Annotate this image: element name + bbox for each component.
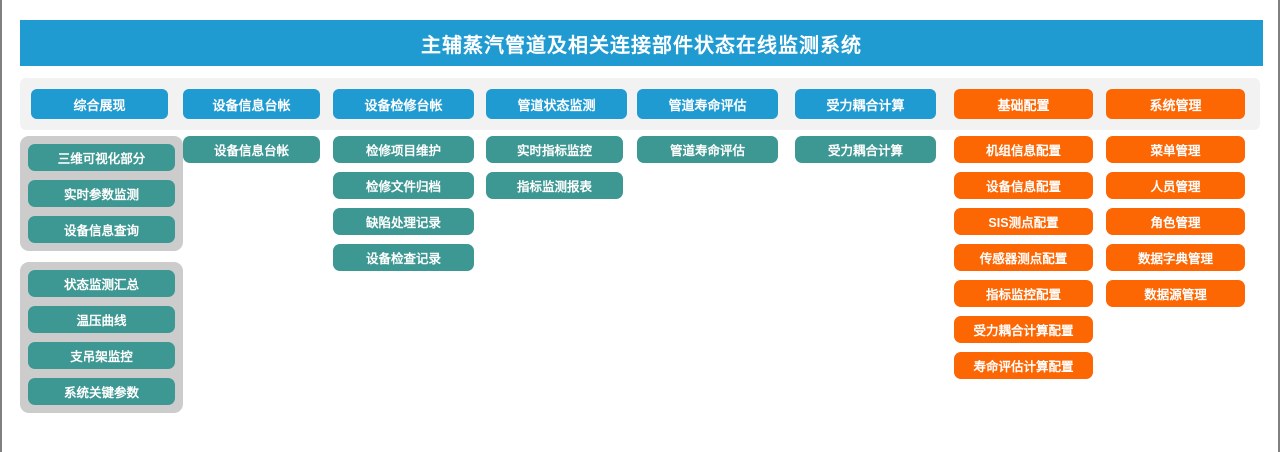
submenu-item[interactable]: 设备信息查询	[28, 216, 175, 243]
main-navigation-bar: 综合展现设备信息台帐设备检修台帐管道状态监测管道寿命评估受力耦合计算基础配置系统…	[20, 78, 1260, 130]
submenu-column-3: 检修项目维护检修文件归档缺陷处理记录设备检查记录	[333, 136, 474, 280]
submenu-item[interactable]: 受力耦合计算配置	[954, 316, 1093, 343]
nav-button-2[interactable]: 设备信息台帐	[183, 89, 320, 119]
submenu-item[interactable]: 缺陷处理记录	[333, 208, 474, 235]
nav-button-label: 设备检修台帐	[364, 95, 442, 114]
submenu-column-5: 管道寿命评估	[637, 136, 778, 172]
submenu-column-6: 受力耦合计算	[795, 136, 936, 172]
nav-button-label: 综合展现	[73, 95, 125, 114]
submenu-item-label: 设备信息台帐	[214, 140, 289, 159]
submenu-item[interactable]: 系统关键参数	[28, 378, 175, 405]
submenu-item-label: 数据源管理	[1144, 284, 1207, 303]
submenu-item[interactable]: 设备信息台帐	[183, 136, 320, 163]
submenu-item[interactable]: 状态监测汇总	[28, 270, 175, 297]
submenu-item-label: 检修文件归档	[366, 176, 441, 195]
nav-button-1[interactable]: 综合展现	[31, 89, 168, 119]
submenu-item[interactable]: 支吊架监控	[28, 342, 175, 369]
submenu-item-label: 设备检查记录	[366, 248, 441, 267]
submenu-group-box: 状态监测汇总温压曲线支吊架监控系统关键参数	[20, 262, 183, 413]
submenu-column-2: 设备信息台帐	[183, 136, 320, 172]
submenu-item[interactable]: 设备检查记录	[333, 244, 474, 271]
submenu-item[interactable]: 三维可视化部分	[28, 144, 175, 171]
submenu-item[interactable]: 检修文件归档	[333, 172, 474, 199]
submenu-item[interactable]: 数据字典管理	[1106, 244, 1245, 271]
submenu-item-label: 系统关键参数	[64, 382, 139, 401]
submenu-item[interactable]: 寿命评估计算配置	[954, 352, 1093, 379]
submenu-item-label: 角色管理	[1150, 212, 1200, 231]
nav-button-5[interactable]: 管道寿命评估	[637, 89, 778, 119]
submenu-item-label: 机组信息配置	[986, 140, 1061, 159]
submenu-item-label: 设备信息查询	[64, 220, 139, 239]
submenu-item[interactable]: 管道寿命评估	[637, 136, 778, 163]
submenu-item-label: 数据字典管理	[1138, 248, 1213, 267]
submenu-item-label: 实时参数监测	[64, 184, 139, 203]
nav-button-3[interactable]: 设备检修台帐	[333, 89, 474, 119]
submenu-item-label: 状态监测汇总	[64, 274, 139, 293]
submenu-columns-area: 三维可视化部分实时参数监测设备信息查询状态监测汇总温压曲线支吊架监控系统关键参数…	[2, 136, 1280, 436]
submenu-item[interactable]: 实时参数监测	[28, 180, 175, 207]
submenu-column-1: 三维可视化部分实时参数监测设备信息查询状态监测汇总温压曲线支吊架监控系统关键参数	[20, 136, 183, 424]
submenu-item[interactable]: SIS测点配置	[954, 208, 1093, 235]
nav-button-7[interactable]: 基础配置	[954, 89, 1093, 119]
submenu-item[interactable]: 指标监测报表	[486, 172, 623, 199]
nav-button-label: 受力耦合计算	[826, 95, 904, 114]
submenu-item[interactable]: 菜单管理	[1106, 136, 1245, 163]
submenu-item-label: 管道寿命评估	[670, 140, 745, 159]
submenu-item[interactable]: 传感器测点配置	[954, 244, 1093, 271]
submenu-column-7: 机组信息配置设备信息配置SIS测点配置传感器测点配置指标监控配置受力耦合计算配置…	[954, 136, 1093, 388]
nav-button-label: 管道状态监测	[517, 95, 595, 114]
submenu-item[interactable]: 角色管理	[1106, 208, 1245, 235]
nav-button-label: 设备信息台帐	[212, 95, 290, 114]
submenu-item-label: 菜单管理	[1150, 140, 1200, 159]
submenu-item-label: 三维可视化部分	[58, 148, 146, 167]
submenu-item[interactable]: 设备信息配置	[954, 172, 1093, 199]
nav-button-6[interactable]: 受力耦合计算	[795, 89, 936, 119]
submenu-item[interactable]: 人员管理	[1106, 172, 1245, 199]
submenu-item-label: 支吊架监控	[70, 346, 133, 365]
page-title: 主辅蒸汽管道及相关连接部件状态在线监测系统	[421, 29, 862, 58]
submenu-item-label: SIS测点配置	[988, 212, 1058, 231]
nav-button-8[interactable]: 系统管理	[1106, 89, 1245, 119]
app-header-banner: 主辅蒸汽管道及相关连接部件状态在线监测系统	[20, 20, 1263, 66]
submenu-item-label: 设备信息配置	[986, 176, 1061, 195]
submenu-item[interactable]: 机组信息配置	[954, 136, 1093, 163]
nav-button-label: 管道寿命评估	[668, 95, 746, 114]
submenu-item-label: 温压曲线	[76, 310, 126, 329]
submenu-item-label: 实时指标监控	[517, 140, 592, 159]
submenu-item-label: 指标监测报表	[517, 176, 592, 195]
nav-button-label: 系统管理	[1149, 95, 1201, 114]
submenu-item[interactable]: 检修项目维护	[333, 136, 474, 163]
submenu-group-box: 三维可视化部分实时参数监测设备信息查询	[20, 136, 183, 251]
submenu-item[interactable]: 受力耦合计算	[795, 136, 936, 163]
submenu-item-label: 缺陷处理记录	[366, 212, 441, 231]
submenu-item[interactable]: 温压曲线	[28, 306, 175, 333]
nav-button-4[interactable]: 管道状态监测	[486, 89, 627, 119]
submenu-item[interactable]: 数据源管理	[1106, 280, 1245, 307]
submenu-column-8: 菜单管理人员管理角色管理数据字典管理数据源管理	[1106, 136, 1245, 316]
nav-button-label: 基础配置	[997, 95, 1049, 114]
submenu-item[interactable]: 实时指标监控	[486, 136, 623, 163]
submenu-item-label: 检修项目维护	[366, 140, 441, 159]
submenu-item-label: 指标监控配置	[986, 284, 1061, 303]
submenu-item-label: 受力耦合计算	[828, 140, 903, 159]
submenu-item-label: 受力耦合计算配置	[973, 320, 1073, 339]
submenu-column-4: 实时指标监控指标监测报表	[486, 136, 623, 208]
submenu-item-label: 传感器测点配置	[980, 248, 1068, 267]
submenu-item-label: 人员管理	[1150, 176, 1200, 195]
submenu-item-label: 寿命评估计算配置	[973, 356, 1073, 375]
submenu-item[interactable]: 指标监控配置	[954, 280, 1093, 307]
